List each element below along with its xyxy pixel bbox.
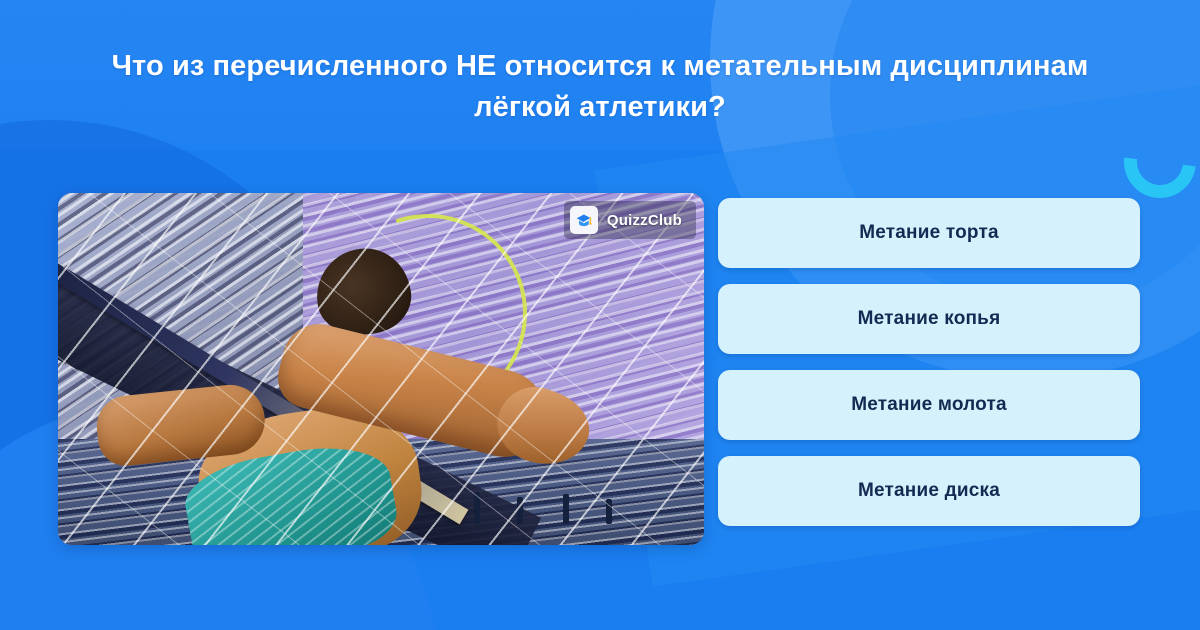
question-title: Что из перечисленного НЕ относится к мет… — [100, 46, 1100, 127]
illustration-artwork — [58, 193, 704, 545]
quizzclub-brand-label: QuizzClub — [607, 212, 682, 229]
answer-option-2-label: Метание копья — [858, 308, 1001, 330]
answer-option-4[interactable]: Метание диска — [718, 456, 1140, 526]
answer-option-3-label: Метание молота — [851, 394, 1007, 416]
answer-option-1[interactable]: Метание торта — [718, 198, 1140, 268]
art-background-figures — [459, 492, 653, 524]
graduation-cap-icon — [570, 206, 598, 234]
answer-option-2[interactable]: Метание копья — [718, 284, 1140, 354]
answer-option-1-label: Метание торта — [859, 222, 999, 244]
answer-option-4-label: Метание диска — [858, 480, 1000, 502]
quiz-card: Что из перечисленного НЕ относится к мет… — [0, 0, 1200, 630]
quizzclub-watermark: QuizzClub — [564, 201, 696, 239]
answer-option-3[interactable]: Метание молота — [718, 370, 1140, 440]
question-image: QuizzClub — [58, 193, 704, 545]
answer-options-list: Метание торта Метание копья Метание моло… — [718, 198, 1140, 526]
